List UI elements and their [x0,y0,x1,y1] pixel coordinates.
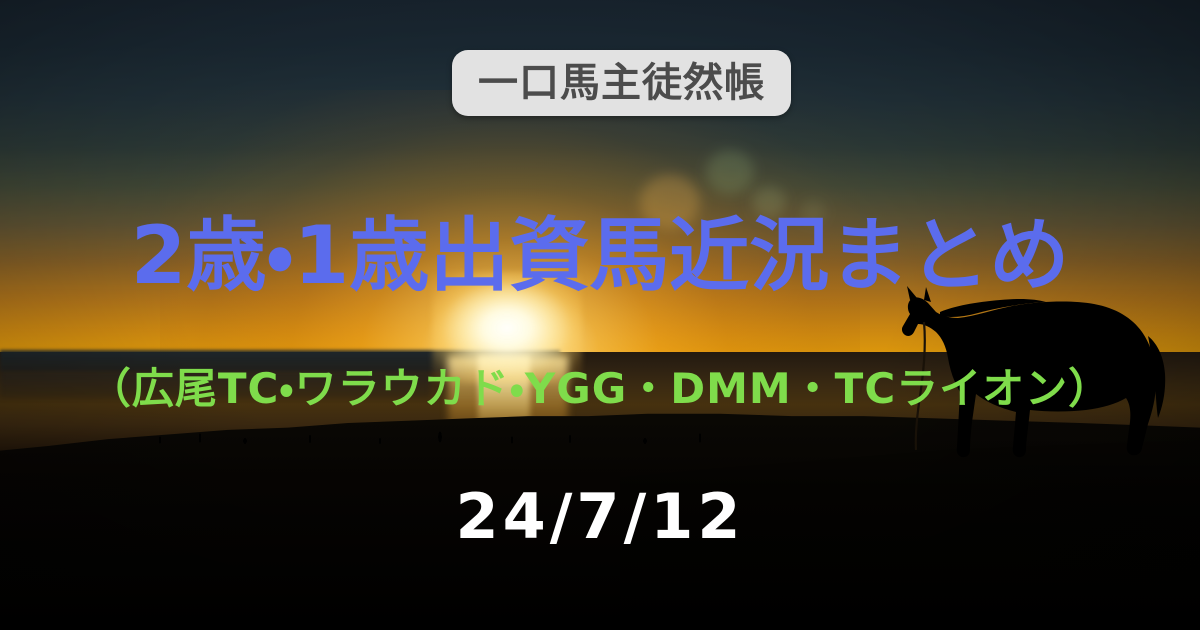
site-name-badge: 一口馬主徒然帳 [452,50,791,116]
subtitle-clubs: （広尾TC・ワラウカド・YGG・DMM・TCライオン） [0,368,1200,410]
page-title: 2歳・1歳出資馬近況まとめ [0,216,1200,296]
date-stamp: 24/7/12 [0,486,1200,548]
site-name-label: 一口馬主徒然帳 [478,63,765,103]
thumbnail-canvas: 一口馬主徒然帳 2歳・1歳出資馬近況まとめ （広尾TC・ワラウカド・YGG・DM… [0,0,1200,630]
